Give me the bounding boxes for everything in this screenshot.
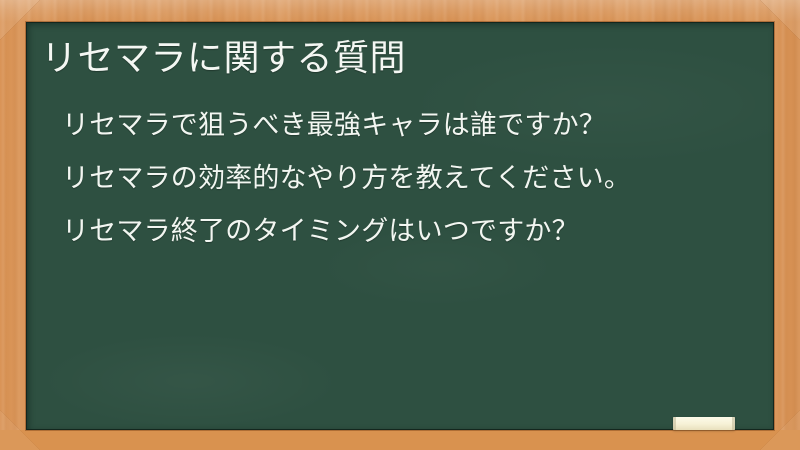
list-item: リセマラの効率的なやり方を教えてください。 [62,153,752,206]
chalk-end-right [732,417,735,430]
list-item: リセマラで狙うべき最強キャラは誰ですか？ [62,100,752,153]
page-title: リセマラに関する質問 [41,36,406,81]
chalkboard: リセマラに関する質問 リセマラで狙うべき最強キャラは誰ですか？ リセマラの効率的… [26,22,774,430]
chalk-end-left [673,417,676,430]
list-item: リセマラ終了のタイミングはいつですか？ [62,206,752,259]
slide-canvas: リセマラに関する質問 リセマラで狙うべき最強キャラは誰ですか？ リセマラの効率的… [0,0,800,450]
frame-top-bevel [0,0,800,22]
frame-bottom-ledge [0,430,800,450]
chalk-icon [673,417,735,430]
question-list: リセマラで狙うべき最強キャラは誰ですか？ リセマラの効率的なやり方を教えてくださ… [62,100,752,259]
